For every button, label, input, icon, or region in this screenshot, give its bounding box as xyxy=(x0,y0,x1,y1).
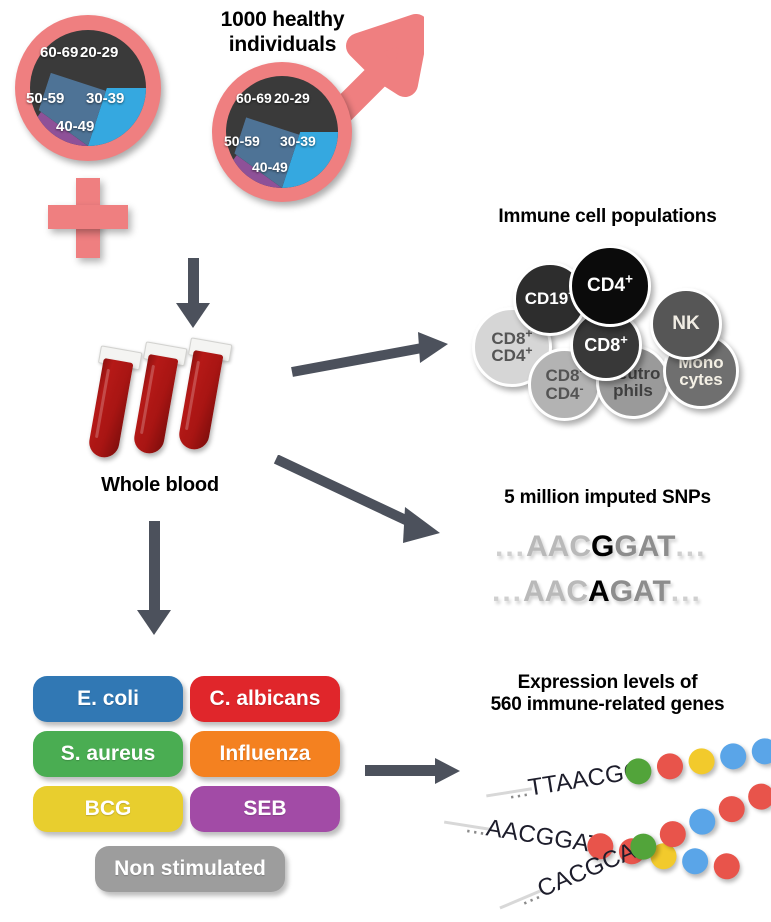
stimulation-label: S. aureus xyxy=(61,742,156,766)
cell-label: CD4+ xyxy=(587,276,633,295)
cell-label: CD8+ xyxy=(584,336,628,354)
stimulation-label: Non stimulated xyxy=(114,857,266,881)
stimulation-saureus[interactable]: S. aureus xyxy=(33,731,183,777)
snps-title: 5 million imputed SNPs xyxy=(455,487,760,509)
stimulation-label: E. coli xyxy=(77,687,139,711)
expression-bead xyxy=(687,746,717,776)
stimulation-seb[interactable]: SEB xyxy=(190,786,340,832)
snp-before: AAC xyxy=(526,530,591,563)
snp-variant-allele: A xyxy=(588,575,610,608)
expression-bead xyxy=(655,751,685,781)
cell-cd4: CD4+ xyxy=(569,245,651,327)
snp-after: GAT xyxy=(610,575,671,608)
cell-label: CD8-CD4- xyxy=(545,367,583,402)
figure-canvas: 1000 healthy individuals xyxy=(0,0,771,922)
arrow-shaft xyxy=(365,765,437,776)
expression-title: Expression levels of 560 immune-related … xyxy=(450,672,765,717)
snp-before: AAC xyxy=(523,575,588,608)
stimulation-non-stimulated[interactable]: Non stimulated xyxy=(95,846,285,892)
expression-bead xyxy=(750,736,771,766)
cell-label: NK xyxy=(672,314,699,333)
arrow-head xyxy=(435,758,460,784)
stimulation-ecoli[interactable]: E. coli xyxy=(33,676,183,722)
cell-label: CD19+ xyxy=(525,290,576,307)
expression-bead xyxy=(680,846,710,876)
snp-prefix: ... xyxy=(492,575,523,608)
stimulation-panel: E. coli C. albicans S. aureus Influenza … xyxy=(0,0,380,922)
expression-title-line-1: Expression levels of xyxy=(450,672,765,694)
cell-label: CD8+CD4+ xyxy=(491,330,532,365)
snp-suffix: ... xyxy=(675,530,706,563)
stimulation-label: BCG xyxy=(85,797,132,821)
snp-suffix: ... xyxy=(671,575,702,608)
expression-bead xyxy=(718,741,748,771)
snp-sequence-row-2: ...AACAGAT... xyxy=(492,575,702,609)
cell-nk: NK xyxy=(650,288,722,360)
stimulation-label: Influenza xyxy=(219,742,310,766)
stimulation-calbicans[interactable]: C. albicans xyxy=(190,676,340,722)
stimulation-influenza[interactable]: Influenza xyxy=(190,731,340,777)
snp-sequence-row-1: ...AACGGAT... xyxy=(495,530,706,564)
snp-prefix: ... xyxy=(495,530,526,563)
stimulation-label: C. albicans xyxy=(210,687,321,711)
stimulation-label: SEB xyxy=(243,797,286,821)
stimulation-bcg[interactable]: BCG xyxy=(33,786,183,832)
snp-variant-allele: G xyxy=(591,530,614,563)
expression-title-line-2: 560 immune-related genes xyxy=(450,694,765,716)
snp-after: GAT xyxy=(614,530,675,563)
